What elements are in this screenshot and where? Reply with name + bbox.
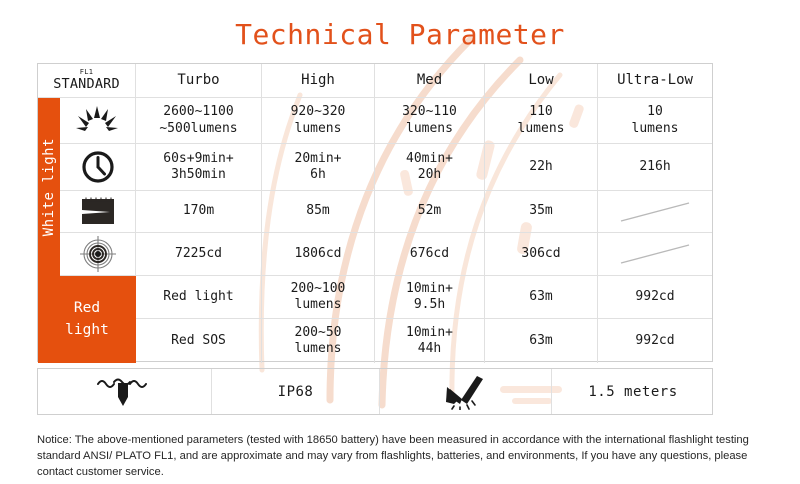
clock-icon <box>80 149 116 185</box>
metric-icon-beam-distance <box>60 191 136 233</box>
cell-lumens-low: 110 lumens <box>485 98 598 144</box>
water-resistance-value: IP68 <box>212 369 380 414</box>
cell-lumens-turbo: 2600~1100 ~500lumens <box>136 98 262 144</box>
cell-lumens-med: 320~110 lumens <box>375 98 485 144</box>
cell-red-sos-distance: 63m <box>485 319 598 363</box>
notice-text: Notice: The above-mentioned parameters (… <box>37 432 767 481</box>
impact-resistance-icon <box>441 374 491 410</box>
red-light-label: Red light <box>65 298 109 342</box>
header-col-high: High <box>262 64 375 98</box>
cell-beam-distance-turbo: 170m <box>136 191 262 233</box>
cell-runtime-med: 40min+ 20h <box>375 144 485 191</box>
header-col-turbo: Turbo <box>136 64 262 98</box>
cell-beam-distance-high: 85m <box>262 191 375 233</box>
cell-runtime-turbo: 60s+9min+ 3h50min <box>136 144 262 191</box>
cell-red-sos-lumens: 200~50 lumens <box>262 319 375 363</box>
cell-red-light-distance: 63m <box>485 276 598 319</box>
cell-intensity-med: 676cd <box>375 233 485 276</box>
section-label-white-light: White light <box>38 98 60 276</box>
cell-runtime-high: 20min+ 6h <box>262 144 375 191</box>
target-icon <box>78 234 118 274</box>
sunburst-icon <box>75 105 121 137</box>
white-light-label: White light <box>41 138 57 236</box>
water-resistance-icon-cell <box>38 369 212 414</box>
cell-intensity-low: 306cd <box>485 233 598 276</box>
spec-table: FL1 STANDARD Turbo High Med Low Ultra-Lo… <box>37 63 713 362</box>
impact-resistance-value: 1.5 meters <box>552 369 714 414</box>
metric-icon-runtime <box>60 144 136 191</box>
cell-intensity-high: 1806cd <box>262 233 375 276</box>
cell-beam-distance-ultra-low <box>598 191 712 233</box>
header-col-ultra-low: Ultra-Low <box>598 64 712 98</box>
not-applicable-slash-icon <box>617 241 693 267</box>
cell-red-light-intensity: 992cd <box>598 276 712 319</box>
page-title: Technical Parameter <box>0 18 800 51</box>
standard-label: STANDARD <box>53 77 120 92</box>
beam-distance-icon <box>78 197 118 227</box>
impact-resistance-icon-cell <box>380 369 552 414</box>
cell-intensity-ultra-low <box>598 233 712 276</box>
header-col-low: Low <box>485 64 598 98</box>
ratings-row: IP68 1.5 meters <box>37 368 713 415</box>
cell-red-sos-name: Red SOS <box>136 319 262 363</box>
header-col-med: Med <box>375 64 485 98</box>
water-submersion-icon <box>94 375 156 409</box>
cell-red-mode-name: Red light <box>136 276 262 319</box>
cell-red-sos-intensity: 992cd <box>598 319 712 363</box>
cell-lumens-high: 920~320 lumens <box>262 98 375 144</box>
metric-icon-lumens <box>60 98 136 144</box>
header-fl1-standard: FL1 STANDARD <box>38 64 136 98</box>
cell-runtime-low: 22h <box>485 144 598 191</box>
spec-sheet-page: Technical Parameter FL1 STANDARD Turbo H… <box>0 0 800 484</box>
cell-red-light-runtime: 10min+ 9.5h <box>375 276 485 319</box>
cell-beam-distance-low: 35m <box>485 191 598 233</box>
cell-runtime-ultra-low: 216h <box>598 144 712 191</box>
section-label-red-light: Red light <box>38 276 136 363</box>
cell-red-light-lumens: 200~100 lumens <box>262 276 375 319</box>
cell-red-sos-runtime: 10min+ 44h <box>375 319 485 363</box>
cell-beam-distance-med: 52m <box>375 191 485 233</box>
cell-intensity-turbo: 7225cd <box>136 233 262 276</box>
metric-icon-peak-beam-intensity <box>60 233 136 276</box>
not-applicable-slash-icon <box>617 199 693 225</box>
cell-lumens-ultra-low: 10 lumens <box>598 98 712 144</box>
